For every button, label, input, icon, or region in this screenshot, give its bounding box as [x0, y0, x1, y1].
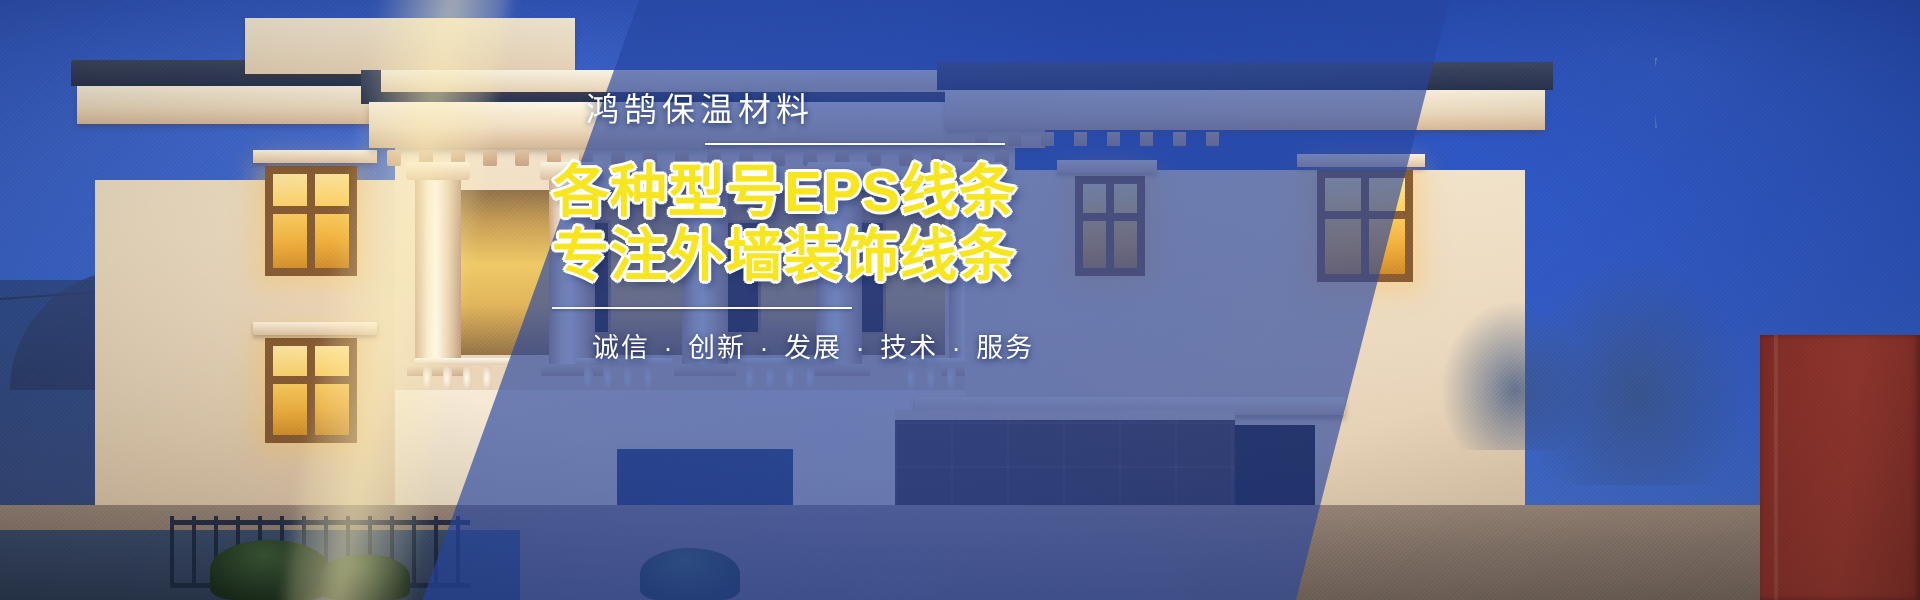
tagline-separator: ·: [952, 333, 963, 363]
tagline-separator: ·: [856, 333, 867, 363]
tagline-separator: ·: [760, 333, 771, 363]
divider-rule-bottom: [552, 307, 852, 309]
tagline-item: 发展: [784, 333, 842, 363]
tagline: 诚信 · 创新 · 发展 · 技术 · 服务: [552, 326, 1022, 365]
tagline-separator: ·: [664, 333, 675, 363]
headline-line-1: 各种型号EPS线条: [552, 161, 1022, 225]
tagline-item: 创新: [688, 333, 746, 363]
headline-group: 各种型号EPS线条 专注外墙装饰线条: [552, 161, 1022, 289]
hero-banner: 鸿鹄保温材料 各种型号EPS线条 专注外墙装饰线条 诚信 · 创新 · 发展 ·…: [0, 0, 1920, 600]
brand-name: 鸿鹄保温材料: [552, 92, 1022, 128]
tagline-item: 诚信: [592, 333, 650, 363]
tagline-item: 技术: [880, 333, 938, 363]
tagline-item: 服务: [976, 333, 1034, 363]
headline-line-2: 专注外墙装饰线条: [552, 225, 1022, 289]
banner-copy: 鸿鹄保温材料 各种型号EPS线条 专注外墙装饰线条 诚信 · 创新 · 发展 ·…: [552, 92, 1022, 365]
divider-rule-top: [705, 143, 1005, 145]
